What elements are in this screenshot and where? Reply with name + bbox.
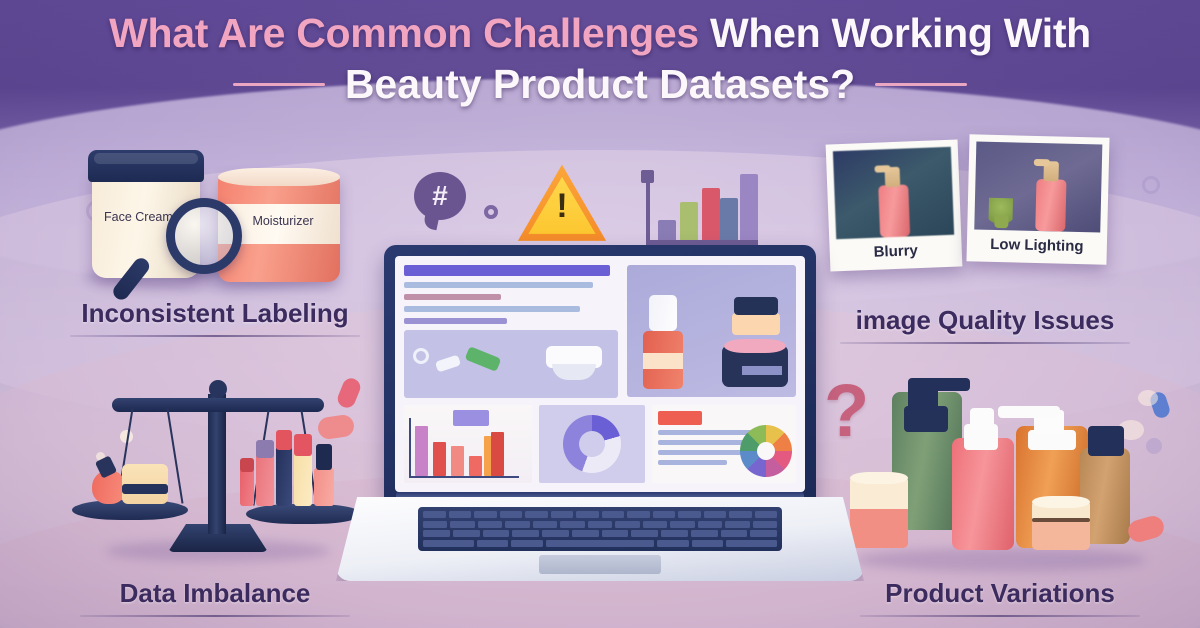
keyboard-row xyxy=(423,521,777,528)
dashboard-product-flatlay xyxy=(404,330,618,398)
open-jar-base xyxy=(552,364,596,380)
pump-bottle-orange-nozzle xyxy=(998,406,1060,418)
key xyxy=(691,530,718,537)
key xyxy=(423,530,450,537)
key xyxy=(698,521,722,528)
list-line xyxy=(658,450,750,455)
caption-underline xyxy=(80,615,350,617)
key xyxy=(423,511,446,518)
soap-bar-icon xyxy=(1126,513,1167,544)
caption-underline xyxy=(840,342,1130,344)
title-highlight: What Are Common Challenges xyxy=(109,10,699,56)
key xyxy=(511,540,543,547)
list-line xyxy=(658,440,745,445)
donut-chart xyxy=(563,415,621,473)
jar-face-cream-lid xyxy=(88,150,204,182)
jar-tan-lid xyxy=(734,297,778,315)
product-photo-tile xyxy=(627,265,796,397)
key xyxy=(615,521,639,528)
pump-bottle-pink-neck xyxy=(970,408,994,430)
bar-2 xyxy=(433,442,446,476)
decor-heart xyxy=(1138,390,1158,406)
key xyxy=(721,530,748,537)
key xyxy=(729,511,752,518)
plant-icon xyxy=(988,198,1013,229)
laptop-trackpad xyxy=(539,555,661,574)
pan-item-mascara-tip xyxy=(276,430,292,450)
caption-text: Inconsistent Labeling xyxy=(70,298,360,329)
laptop-lid xyxy=(384,245,816,503)
color-wheel-chart xyxy=(740,425,792,477)
key-enter xyxy=(726,540,777,547)
image-quality-illustration: Blurry Low Lighting xyxy=(826,136,1116,312)
key xyxy=(423,521,447,528)
dashboard-text-line xyxy=(404,282,593,288)
key xyxy=(602,530,629,537)
jar-ring-icon xyxy=(413,348,429,364)
key xyxy=(670,521,694,528)
data-imbalance-illustration xyxy=(70,372,370,572)
pan-item-mascara xyxy=(276,446,292,506)
keyboard-row xyxy=(423,530,777,537)
scale-string xyxy=(167,408,184,503)
bar-5 xyxy=(740,174,758,240)
hashtag-speech-bubble-icon: # xyxy=(414,172,466,220)
chart-axis-x xyxy=(409,476,519,478)
laptop-screen xyxy=(395,256,805,492)
key xyxy=(588,521,612,528)
photo-caption: Low Lighting xyxy=(973,229,1100,264)
keyboard-row xyxy=(423,540,777,547)
jar-moisturizer-label: Moisturizer xyxy=(233,214,333,229)
pump-bottle-icon xyxy=(1035,179,1066,232)
caption-underline xyxy=(860,615,1140,617)
green-tube-icon xyxy=(465,346,502,372)
key xyxy=(657,540,689,547)
pan-item-lipstick-2 xyxy=(256,452,274,506)
key xyxy=(627,511,650,518)
key xyxy=(643,521,667,528)
dashboard-bottom-row xyxy=(404,405,796,483)
pump-bottle-pink xyxy=(952,438,1014,550)
key xyxy=(692,540,724,547)
caption-text: image Quality Issues xyxy=(840,305,1130,336)
title-rest: When Working With xyxy=(699,10,1091,56)
dashboard-top-row xyxy=(404,265,796,398)
key xyxy=(512,530,539,537)
bar-3 xyxy=(702,188,720,240)
list-line xyxy=(658,430,756,435)
list-line xyxy=(658,460,727,465)
key xyxy=(631,530,658,537)
dashboard-heading-bar xyxy=(404,265,610,276)
key xyxy=(478,521,502,528)
key xyxy=(505,521,529,528)
scale-beam xyxy=(112,398,324,412)
keyboard-row xyxy=(423,511,777,518)
photo-thumbnail-low-lighting xyxy=(974,141,1102,232)
key xyxy=(542,530,569,537)
hashtag-glyph: # xyxy=(414,172,466,220)
key xyxy=(661,530,688,537)
caption-image-quality-issues: image Quality Issues xyxy=(840,305,1130,344)
key xyxy=(560,521,584,528)
caption-text: Data Imbalance xyxy=(80,578,350,609)
caption-underline xyxy=(70,335,360,337)
tube-icon xyxy=(435,355,461,373)
pan-item-polish-cap xyxy=(316,444,332,470)
caption-product-variations: Product Variations xyxy=(860,578,1140,617)
pump-bottle-green-nozzle xyxy=(908,378,970,391)
cream-jar-cream-band xyxy=(1032,518,1090,522)
key xyxy=(449,511,472,518)
dashboard-text-line xyxy=(404,294,501,300)
jar-navy-lid xyxy=(724,339,786,353)
pan-item-lipstick-3-tip xyxy=(294,434,312,456)
key xyxy=(483,530,510,537)
dashboard-bar-chart xyxy=(404,405,532,483)
laptop-base xyxy=(336,497,864,581)
jar-moisturizer-lid xyxy=(218,168,340,186)
page-header: What Are Common Challenges When Working … xyxy=(0,0,1200,120)
infographic-canvas: What Are Common Challenges When Working … xyxy=(0,0,1200,628)
title-rule-right xyxy=(875,83,967,86)
pan-item-lipstick-1-tip xyxy=(240,458,254,472)
pan-item-lipstick-3 xyxy=(294,452,312,506)
pan-item-polish xyxy=(314,468,334,506)
photo-card-low-lighting: Low Lighting xyxy=(966,134,1109,264)
jar-tan xyxy=(732,313,780,335)
key-shift xyxy=(423,540,474,547)
confetti-ring xyxy=(1142,176,1160,194)
chart-legend xyxy=(453,410,489,426)
page-title-line-1: What Are Common Challenges When Working … xyxy=(0,10,1200,57)
key xyxy=(453,530,480,537)
dashboard-text-line xyxy=(404,318,507,324)
bottle-white xyxy=(649,295,677,331)
warning-triangle-icon: ! xyxy=(516,163,608,245)
dashboard-list-panel xyxy=(652,405,796,483)
key xyxy=(572,530,599,537)
title-subline-text: Beauty Product Datasets? xyxy=(345,61,855,108)
pan-item-lipstick-2-tip xyxy=(256,440,274,458)
caption-inconsistent-labeling: Inconsistent Labeling xyxy=(70,298,360,337)
caption-text: Product Variations xyxy=(860,578,1140,609)
bar-4 xyxy=(720,198,738,240)
caption-data-imbalance: Data Imbalance xyxy=(80,578,350,617)
laptop-illustration xyxy=(336,245,864,593)
laptop-keyboard xyxy=(418,507,782,551)
key xyxy=(551,511,574,518)
scale-pivot-knob xyxy=(209,380,227,398)
key xyxy=(653,511,676,518)
bar-2 xyxy=(680,202,698,240)
inconsistent-labeling-illustration: Face Cream Moisturizer xyxy=(78,142,378,292)
product-variations-illustration: ? xyxy=(846,372,1166,580)
key xyxy=(750,530,777,537)
key xyxy=(704,511,727,518)
dashboard-pie-chart xyxy=(539,405,645,483)
warning-exclamation-glyph: ! xyxy=(516,189,608,223)
magnifying-glass-icon xyxy=(166,198,242,274)
dashboard-text-panel xyxy=(404,265,618,398)
dashboard-text-line xyxy=(404,306,580,312)
key xyxy=(500,511,523,518)
small-circle-dot-icon xyxy=(484,205,498,219)
key xyxy=(525,511,548,518)
bar-3 xyxy=(451,446,464,476)
dropper-bottle-cap xyxy=(1088,426,1124,456)
photo-thumbnail-blurry xyxy=(833,147,954,239)
pan-item-jar-band xyxy=(122,484,168,494)
page-title-line-2: Beauty Product Datasets? xyxy=(0,61,1200,108)
key xyxy=(678,511,701,518)
dashboard-product-photo xyxy=(627,265,796,398)
title-rule-left xyxy=(233,83,325,86)
key xyxy=(533,521,557,528)
bar-4 xyxy=(469,456,482,476)
bottle-red-band xyxy=(643,353,683,369)
bar-chart-icon xyxy=(640,170,760,248)
key xyxy=(725,521,749,528)
pump-bottle-icon xyxy=(878,184,910,237)
scale-post xyxy=(208,394,226,534)
key xyxy=(755,511,778,518)
key xyxy=(474,511,497,518)
tag-icon xyxy=(658,411,702,425)
key xyxy=(477,540,509,547)
chart-axis-y xyxy=(409,418,411,476)
pan-item-lipstick-1 xyxy=(240,468,254,506)
key xyxy=(450,521,474,528)
bar-5b xyxy=(491,432,504,476)
key xyxy=(576,511,599,518)
key-space xyxy=(546,540,654,547)
key xyxy=(602,511,625,518)
chart-axis-knob xyxy=(641,170,654,183)
product-shadow xyxy=(856,548,1146,572)
cream-jar-cream-lid xyxy=(1032,496,1090,508)
jar-navy-band xyxy=(742,366,782,375)
bar-1 xyxy=(415,426,428,476)
chart-axis-y xyxy=(646,176,650,242)
bar-1 xyxy=(658,220,676,240)
key xyxy=(753,521,777,528)
